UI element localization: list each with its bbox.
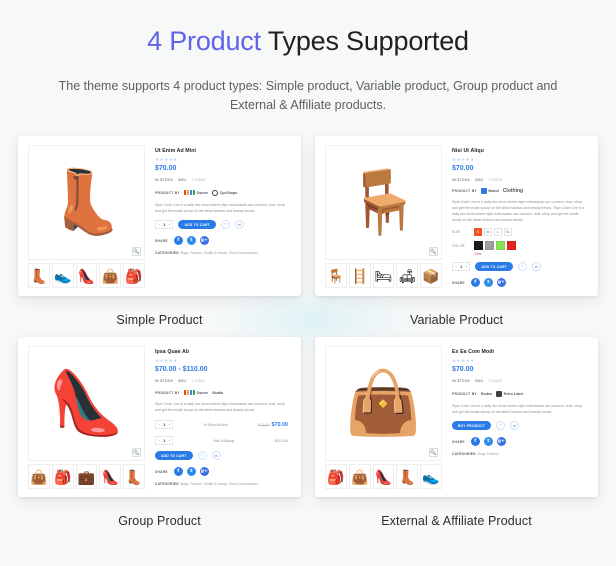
page-root: 4 Product Types Supported The theme supp… bbox=[0, 0, 616, 529]
share-row: SHARE f t g+ bbox=[155, 467, 288, 476]
rating-stars: ★★★★★ bbox=[155, 157, 288, 163]
twitter-icon[interactable]: t bbox=[187, 236, 196, 245]
thumb-brown-satchel[interactable]: 💼 bbox=[76, 464, 98, 489]
brand-name-one: Rodeo bbox=[481, 392, 492, 396]
sku-value: T-10001 bbox=[191, 378, 205, 384]
color-dots-icon bbox=[184, 390, 195, 395]
rating-stars: ★★★★★ bbox=[155, 358, 288, 364]
brand-logo-retro-label[interactable]: Retro Label bbox=[496, 391, 523, 397]
caption-external-affiliate-product: External & Affiliate Product bbox=[315, 497, 598, 529]
facebook-icon[interactable]: f bbox=[471, 437, 480, 446]
twitter-icon[interactable]: t bbox=[484, 437, 493, 446]
thumb-black-backpack[interactable]: 🎒 bbox=[52, 464, 74, 489]
thumb-brown-bag[interactable]: 👜 bbox=[349, 464, 371, 489]
categories-value[interactable]: Bags, Fashion, Health & beauty, Shoe & a… bbox=[181, 251, 258, 255]
share-row: SHARE f t g+ bbox=[452, 437, 585, 446]
compare-icon[interactable]: ⇄ bbox=[532, 262, 541, 271]
thumbnail-strip-variable: 🪑 🪜 🛏 🛋 📦 bbox=[325, 263, 442, 288]
product-info-variable: Nisi Ut Aliqu ★★★★★ $70.00 IN STOCK SKU … bbox=[444, 142, 592, 290]
brand-name-one: Brand bbox=[488, 189, 498, 193]
color-dots-icon bbox=[184, 190, 195, 195]
page-subtitle: The theme supports 4 product types: Simp… bbox=[43, 77, 573, 115]
thumb-red-shoes[interactable]: 👠 bbox=[373, 464, 395, 489]
heart-icon[interactable]: ♡ bbox=[496, 421, 505, 430]
googleplus-icon[interactable]: g+ bbox=[497, 278, 506, 287]
stock-status: IN STOCK bbox=[155, 378, 173, 384]
facebook-icon[interactable]: f bbox=[174, 236, 183, 245]
hero-icon-brown-leather-handbag: 👜 bbox=[345, 373, 422, 435]
grouped-product-row: − 1 + Ut Enim Ad Mini $75.00$70.00 bbox=[155, 420, 288, 429]
qty-minus-icon[interactable]: − bbox=[158, 423, 160, 427]
brand-logo-one[interactable]: Brand bbox=[481, 188, 499, 194]
magnifier-icon[interactable]: 🔍 bbox=[429, 247, 438, 256]
size-swatch-l[interactable]: L bbox=[494, 228, 502, 236]
product-type-cell-simple: 👢 🔍 👢 👟 👠 👜 🎒 Ut Enim Ad Mini bbox=[18, 136, 301, 328]
compare-icon[interactable]: ⇄ bbox=[235, 220, 244, 229]
page-title-rest: Types Supported bbox=[261, 26, 469, 56]
brand-label: PRODUCT BY bbox=[452, 189, 477, 193]
qty-minus-icon[interactable]: − bbox=[158, 223, 160, 227]
thumbnail-strip-simple: 👢 👟 👠 👜 🎒 bbox=[28, 263, 145, 288]
product-price: $70.00 bbox=[155, 164, 288, 173]
brand-logo-studio[interactable]: Studio bbox=[212, 391, 223, 395]
brand-logo-cycshops[interactable]: CycShops bbox=[212, 190, 237, 196]
brand-row: PRODUCT BY Gstore CycShops bbox=[155, 188, 288, 197]
brand-name-one: Gstore bbox=[196, 391, 208, 395]
grouped-product-price: $75.00$70.00 bbox=[258, 422, 288, 428]
brand-label: PRODUCT BY bbox=[155, 391, 180, 395]
hero-icon-wooden-side-table: 🪑 bbox=[345, 172, 422, 234]
thumb-black-boot[interactable]: 👢 bbox=[28, 263, 50, 288]
thumb-black-backpack[interactable]: 🎒 bbox=[325, 464, 347, 489]
cart-row: − 1 + Add To Cart ♡ ⇄ bbox=[452, 262, 585, 271]
facebook-icon[interactable]: f bbox=[471, 278, 480, 287]
product-description: Style Code Live is a daily live show whe… bbox=[452, 199, 585, 223]
product-info-group: Ipsa Quae Ab ★★★★★ $70.00 - $110.00 IN S… bbox=[147, 343, 295, 491]
thumb-wood-desk[interactable]: 🛏 bbox=[373, 263, 395, 288]
cart-row: − 1 + Add To Cart ♡ ⇄ bbox=[155, 220, 288, 229]
product-title: Ipsa Quae Ab bbox=[155, 349, 288, 356]
color-swatch-green[interactable] bbox=[496, 241, 505, 250]
brand-logo-gstore[interactable]: Gstore bbox=[184, 190, 208, 195]
product-price: $70.00 bbox=[452, 365, 585, 374]
brand-logo-clothing[interactable]: Clothing bbox=[503, 188, 523, 194]
page-title: 4 Product Types Supported bbox=[0, 24, 616, 58]
screenshot-external-affiliate-product[interactable]: 👜 🔍 🎒 👜 👠 👢 👟 Ex Ea Com Modi bbox=[315, 337, 598, 497]
color-swatch-gray[interactable] bbox=[485, 241, 494, 250]
categories-label: CATEGORIES: bbox=[155, 251, 180, 255]
caption-group-product: Group Product bbox=[18, 497, 301, 529]
size-swatch-m[interactable]: M bbox=[484, 228, 492, 236]
thumb-black-backpack[interactable]: 🎒 bbox=[123, 263, 145, 288]
hero-image-group[interactable]: 👠 🔍 bbox=[28, 346, 145, 461]
thumb-brown-bag[interactable]: 👜 bbox=[99, 263, 121, 288]
brand-name-one: Gstore bbox=[196, 191, 208, 195]
hero-icon-burgundy-heeled-shoes: 👠 bbox=[48, 373, 125, 435]
grouped-new-price: $70.00 bbox=[272, 422, 289, 428]
thumb-red-shoes[interactable]: 👠 bbox=[76, 263, 98, 288]
grouped-product-row: − 1 + Nisi Ut Aliquip $110.00 bbox=[155, 436, 288, 445]
sku-label: SKU bbox=[178, 177, 186, 183]
product-info-simple: Ut Enim Ad Mini ★★★★★ $70.00 IN STOCK SK… bbox=[147, 142, 295, 290]
quantity-stepper[interactable]: − 1 + bbox=[155, 220, 173, 229]
product-type-cell-group: 👠 🔍 👜 🎒 💼 👠 👢 Ipsa Quae Ab bbox=[18, 337, 301, 529]
add-to-cart-button[interactable]: Add To Cart bbox=[178, 220, 216, 229]
brand-label: PRODUCT BY bbox=[452, 392, 477, 396]
add-to-cart-button[interactable]: Add To Cart bbox=[155, 451, 193, 460]
gallery-group: 👠 🔍 👜 🎒 💼 👠 👢 bbox=[24, 343, 147, 491]
categories-row: CATEGORIES: Bags, Fashion, Health & beau… bbox=[155, 482, 288, 487]
size-label: SIZE bbox=[452, 230, 468, 234]
thumb-flat-shoes[interactable]: 👟 bbox=[420, 464, 442, 489]
sku-label: SKU bbox=[475, 378, 483, 384]
googleplus-icon[interactable]: g+ bbox=[497, 437, 506, 446]
product-description: Style Code Live is a daily live show whe… bbox=[452, 403, 585, 415]
thumb-flat-shoes[interactable]: 👟 bbox=[52, 263, 74, 288]
size-swatch-xl[interactable]: XL bbox=[504, 228, 512, 236]
color-swatches bbox=[474, 241, 516, 250]
heart-icon[interactable]: ♡ bbox=[221, 220, 230, 229]
gallery-simple: 👢 🔍 👢 👟 👠 👜 🎒 bbox=[24, 142, 147, 290]
size-variation-row: SIZE S M L XL bbox=[452, 228, 585, 236]
stock-sku-row: IN STOCK SKU T-10015 bbox=[452, 177, 585, 183]
color-label: COLOR bbox=[452, 244, 468, 248]
hero-image-variable[interactable]: 🪑 🔍 bbox=[325, 145, 442, 260]
product-price: $70.00 - $110.00 bbox=[155, 365, 288, 374]
qty-plus-icon[interactable]: + bbox=[168, 223, 170, 227]
thumb-wood-table[interactable]: 🪑 bbox=[325, 263, 347, 288]
square-mark-icon bbox=[481, 188, 487, 194]
qty-value: 1 bbox=[163, 222, 165, 227]
qty-plus-icon[interactable]: + bbox=[168, 423, 170, 427]
grouped-product-name[interactable]: Nisi Ut Aliquip bbox=[181, 439, 266, 443]
share-row: SHARE f t g+ bbox=[452, 278, 585, 287]
grouped-product-name[interactable]: Ut Enim Ad Mini bbox=[181, 423, 249, 427]
page-header: 4 Product Types Supported The theme supp… bbox=[0, 0, 616, 115]
sku-value: T-10016 bbox=[191, 177, 205, 183]
screenshot-variable-product[interactable]: 🪑 🔍 🪑 🪜 🛏 🛋 📦 Nisi Ut Aliqu bbox=[315, 136, 598, 296]
share-label: SHARE bbox=[155, 239, 168, 243]
compare-icon[interactable]: ⇄ bbox=[212, 451, 221, 460]
product-type-grid: 👢 🔍 👢 👟 👠 👜 🎒 Ut Enim Ad Mini bbox=[18, 136, 598, 529]
share-label: SHARE bbox=[452, 440, 465, 444]
rating-stars: ★★★★★ bbox=[452, 157, 585, 163]
share-row: SHARE f t g+ bbox=[155, 236, 288, 245]
cart-row: Buy Product ♡ ⇄ bbox=[452, 421, 585, 430]
categories-value[interactable]: Bags, Fashion, Health & beauty, Shoe & a… bbox=[181, 482, 258, 486]
qty-value: 1 bbox=[460, 264, 462, 269]
categories-label: CATEGORIES: bbox=[155, 482, 180, 486]
qty-plus-icon[interactable]: + bbox=[465, 265, 467, 269]
stock-status: IN STOCK bbox=[452, 177, 470, 183]
brand-logo-gstore[interactable]: Gstore bbox=[184, 390, 208, 395]
product-type-cell-external: 👜 🔍 🎒 👜 👠 👢 👟 Ex Ea Com Modi bbox=[315, 337, 598, 529]
product-description: Style Code Live is a daily live show whe… bbox=[155, 401, 288, 413]
magnifier-icon[interactable]: 🔍 bbox=[132, 247, 141, 256]
qty-minus-icon[interactable]: − bbox=[455, 265, 457, 269]
product-title: Ut Enim Ad Mini bbox=[155, 148, 288, 155]
thumbnail-strip-external: 🎒 👜 👠 👢 👟 bbox=[325, 464, 442, 489]
brand-name-two: Studio bbox=[212, 391, 223, 395]
product-type-cell-variable: 🪑 🔍 🪑 🪜 🛏 🛋 📦 Nisi Ut Aliqu bbox=[315, 136, 598, 328]
gallery-external: 👜 🔍 🎒 👜 👠 👢 👟 bbox=[321, 343, 444, 491]
stock-sku-row: IN STOCK SKU T-10024 bbox=[452, 378, 585, 384]
stock-status: IN STOCK bbox=[452, 378, 470, 384]
quantity-stepper[interactable]: − 1 + bbox=[155, 420, 173, 429]
hero-image-external[interactable]: 👜 🔍 bbox=[325, 346, 442, 461]
thumbnail-strip-group: 👜 🎒 💼 👠 👢 bbox=[28, 464, 145, 489]
caption-variable-product: Variable Product bbox=[315, 296, 598, 328]
heart-icon[interactable]: ♡ bbox=[198, 451, 207, 460]
qty-value: 1 bbox=[163, 438, 165, 443]
magnifier-icon[interactable]: 🔍 bbox=[132, 448, 141, 457]
sku-value: T-10024 bbox=[488, 378, 502, 384]
stock-sku-row: IN STOCK SKU T-10001 bbox=[155, 378, 288, 384]
thumb-black-boot[interactable]: 👢 bbox=[123, 464, 145, 489]
square-mark-icon bbox=[496, 391, 502, 397]
stock-sku-row: IN STOCK SKU T-10016 bbox=[155, 177, 288, 183]
stock-status: IN STOCK bbox=[155, 177, 173, 183]
googleplus-icon[interactable]: g+ bbox=[200, 467, 209, 476]
brand-row: PRODUCT BY Rodeo Retro Label bbox=[452, 389, 585, 398]
product-title: Nisi Ut Aliqu bbox=[452, 148, 585, 155]
googleplus-icon[interactable]: g+ bbox=[200, 236, 209, 245]
thumb-black-boot[interactable]: 👢 bbox=[396, 464, 418, 489]
compare-icon[interactable]: ⇄ bbox=[510, 421, 519, 430]
circle-mark-icon bbox=[212, 190, 218, 196]
heart-icon[interactable]: ♡ bbox=[518, 262, 527, 271]
quantity-stepper[interactable]: − 1 + bbox=[155, 436, 173, 445]
thumb-red-shoe[interactable]: 👠 bbox=[99, 464, 121, 489]
brand-row: PRODUCT BY Gstore Studio bbox=[155, 389, 288, 396]
thumb-orange-box[interactable]: 📦 bbox=[420, 263, 442, 288]
page-title-accent: 4 Product bbox=[147, 26, 261, 56]
gallery-variable: 🪑 🔍 🪑 🪜 🛏 🛋 📦 bbox=[321, 142, 444, 290]
cart-row: Add To Cart ♡ ⇄ bbox=[155, 451, 288, 460]
grouped-old-price: $75.00 bbox=[258, 423, 270, 427]
share-label: SHARE bbox=[452, 281, 465, 285]
brand-label: PRODUCT BY bbox=[155, 191, 180, 195]
rating-stars: ★★★★★ bbox=[452, 358, 585, 364]
color-variation-row: COLOR bbox=[452, 241, 585, 250]
product-title: Ex Ea Com Modi bbox=[452, 349, 585, 356]
magnifier-icon[interactable]: 🔍 bbox=[429, 448, 438, 457]
share-label: SHARE bbox=[155, 470, 168, 474]
product-price: $70.00 bbox=[452, 164, 585, 173]
brand-row: PRODUCT BY Brand Clothing bbox=[452, 188, 585, 194]
thumb-black-handbag[interactable]: 👜 bbox=[28, 464, 50, 489]
product-info-external: Ex Ea Com Modi ★★★★★ $70.00 IN STOCK SKU… bbox=[444, 343, 592, 491]
size-swatches: S M L XL bbox=[474, 228, 512, 236]
hero-icon-black-ankle-boot: 👢 bbox=[48, 172, 125, 234]
twitter-icon[interactable]: t bbox=[187, 467, 196, 476]
product-description: Style Code Live is a daily live show whe… bbox=[155, 202, 288, 214]
sku-value: T-10015 bbox=[488, 177, 502, 183]
quantity-stepper[interactable]: − 1 + bbox=[452, 262, 470, 271]
grouped-product-price: $110.00 bbox=[275, 439, 288, 443]
clear-variations-link[interactable]: Clear bbox=[474, 252, 585, 256]
categories-value[interactable]: Bags, Fashion bbox=[478, 452, 499, 456]
qty-minus-icon[interactable]: − bbox=[158, 439, 160, 443]
categories-label: CATEGORIES: bbox=[452, 452, 477, 456]
facebook-icon[interactable]: f bbox=[174, 467, 183, 476]
categories-row: CATEGORIES: Bags, Fashion, Health & beau… bbox=[155, 251, 288, 256]
screenshot-group-product[interactable]: 👠 🔍 👜 🎒 💼 👠 👢 Ipsa Quae Ab bbox=[18, 337, 301, 497]
thumb-red-armchair[interactable]: 🛋 bbox=[396, 263, 418, 288]
color-swatch-black[interactable] bbox=[474, 241, 483, 250]
brand-name-two: CycShops bbox=[220, 191, 238, 195]
caption-simple-product: Simple Product bbox=[18, 296, 301, 328]
brand-logo-rodeo[interactable]: Rodeo bbox=[481, 392, 492, 396]
qty-plus-icon[interactable]: + bbox=[168, 439, 170, 443]
thumb-wood-stool[interactable]: 🪜 bbox=[349, 263, 371, 288]
size-swatch-s[interactable]: S bbox=[474, 228, 482, 236]
categories-row: CATEGORIES: Bags, Fashion bbox=[452, 452, 585, 457]
qty-value: 1 bbox=[163, 422, 165, 427]
sku-label: SKU bbox=[475, 177, 483, 183]
brand-name-two: Clothing bbox=[503, 188, 523, 194]
color-swatch-red[interactable] bbox=[507, 241, 516, 250]
brand-name-two: Retro Label bbox=[504, 392, 524, 396]
sku-label: SKU bbox=[178, 378, 186, 384]
add-to-cart-button[interactable]: Add To Cart bbox=[475, 262, 513, 271]
screenshot-simple-product[interactable]: 👢 🔍 👢 👟 👠 👜 🎒 Ut Enim Ad Mini bbox=[18, 136, 301, 296]
buy-product-button[interactable]: Buy Product bbox=[452, 421, 491, 430]
hero-image-simple[interactable]: 👢 🔍 bbox=[28, 145, 145, 260]
twitter-icon[interactable]: t bbox=[484, 278, 493, 287]
